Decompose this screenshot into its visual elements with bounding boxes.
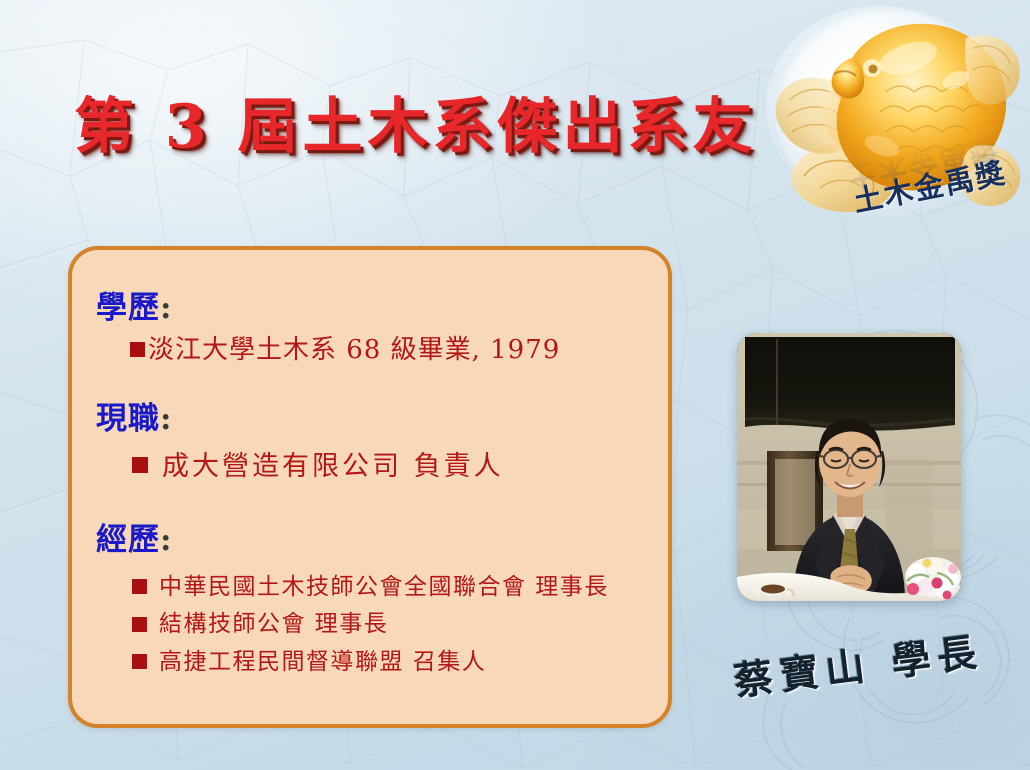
section-experience: 經歷: 中華民國土木技師公會全國聯合會 理事長 結構技師公會 理事長 高捷工程民… [72, 514, 668, 681]
content-panel: 學歷: 淡江大學土木系 68 級畢業, 1979 現職: 成大營造有限公司 負責… [68, 246, 672, 728]
education-list: 淡江大學土木系 68 級畢業, 1979 [130, 333, 668, 369]
heading-text: 經歷 [96, 522, 160, 558]
page-title: 第 3 屆土木系傑出系友 [74, 78, 758, 165]
heading-colon: : [160, 522, 172, 558]
section-heading-education: 學歷: [96, 282, 668, 327]
section-education: 學歷: 淡江大學土木系 68 級畢業, 1979 [72, 282, 668, 369]
list-item-label: 結構技師公會 理事長 [159, 606, 388, 643]
section-current-position: 現職: 成大營造有限公司 負責人 [72, 393, 668, 485]
honoree-name-text: 蔡寶山 學長 [731, 621, 987, 707]
square-bullet-icon [132, 617, 147, 632]
section-heading-experience: 經歷: [96, 514, 668, 559]
list-item-label: 成大營造有限公司 負責人 [162, 448, 504, 485]
honoree-photo [737, 333, 961, 601]
square-bullet-icon [130, 342, 145, 357]
square-bullet-icon [132, 654, 147, 669]
square-bullet-icon [132, 579, 147, 594]
list-item-label: 淡江大學土木系 68 級畢業, 1979 [148, 333, 560, 369]
heading-text: 學歷 [96, 290, 160, 326]
portrait-image [737, 333, 961, 601]
square-bullet-icon [132, 457, 148, 473]
section-heading-current-position: 現職: [96, 393, 668, 438]
current-position-list: 成大營造有限公司 負責人 [132, 448, 668, 485]
list-item: 淡江大學土木系 68 級畢業, 1979 [130, 333, 668, 369]
heading-colon: : [160, 401, 172, 437]
list-item: 結構技師公會 理事長 [132, 606, 668, 643]
award-emblem: 土木金禹獎 土木金禹獎 [760, 0, 1030, 246]
list-item: 成大營造有限公司 負責人 [132, 448, 668, 485]
heading-colon: : [160, 290, 172, 326]
list-item: 高捷工程民間督導聯盟 召集人 [132, 644, 668, 681]
award-label: 土木金禹獎 土木金禹獎 [852, 164, 1030, 244]
heading-text: 現職 [96, 401, 160, 437]
experience-list: 中華民國土木技師公會全國聯合會 理事長 結構技師公會 理事長 高捷工程民間督導聯… [132, 569, 668, 681]
slide-canvas: 第 3 屆土木系傑出系友 [0, 0, 1030, 770]
list-item-label: 高捷工程民間督導聯盟 召集人 [159, 644, 486, 681]
list-item: 中華民國土木技師公會全國聯合會 理事長 [132, 569, 668, 606]
list-item-label: 中華民國土木技師公會全國聯合會 理事長 [159, 569, 609, 606]
honoree-name: 蔡寶山 學長 [733, 636, 1030, 716]
